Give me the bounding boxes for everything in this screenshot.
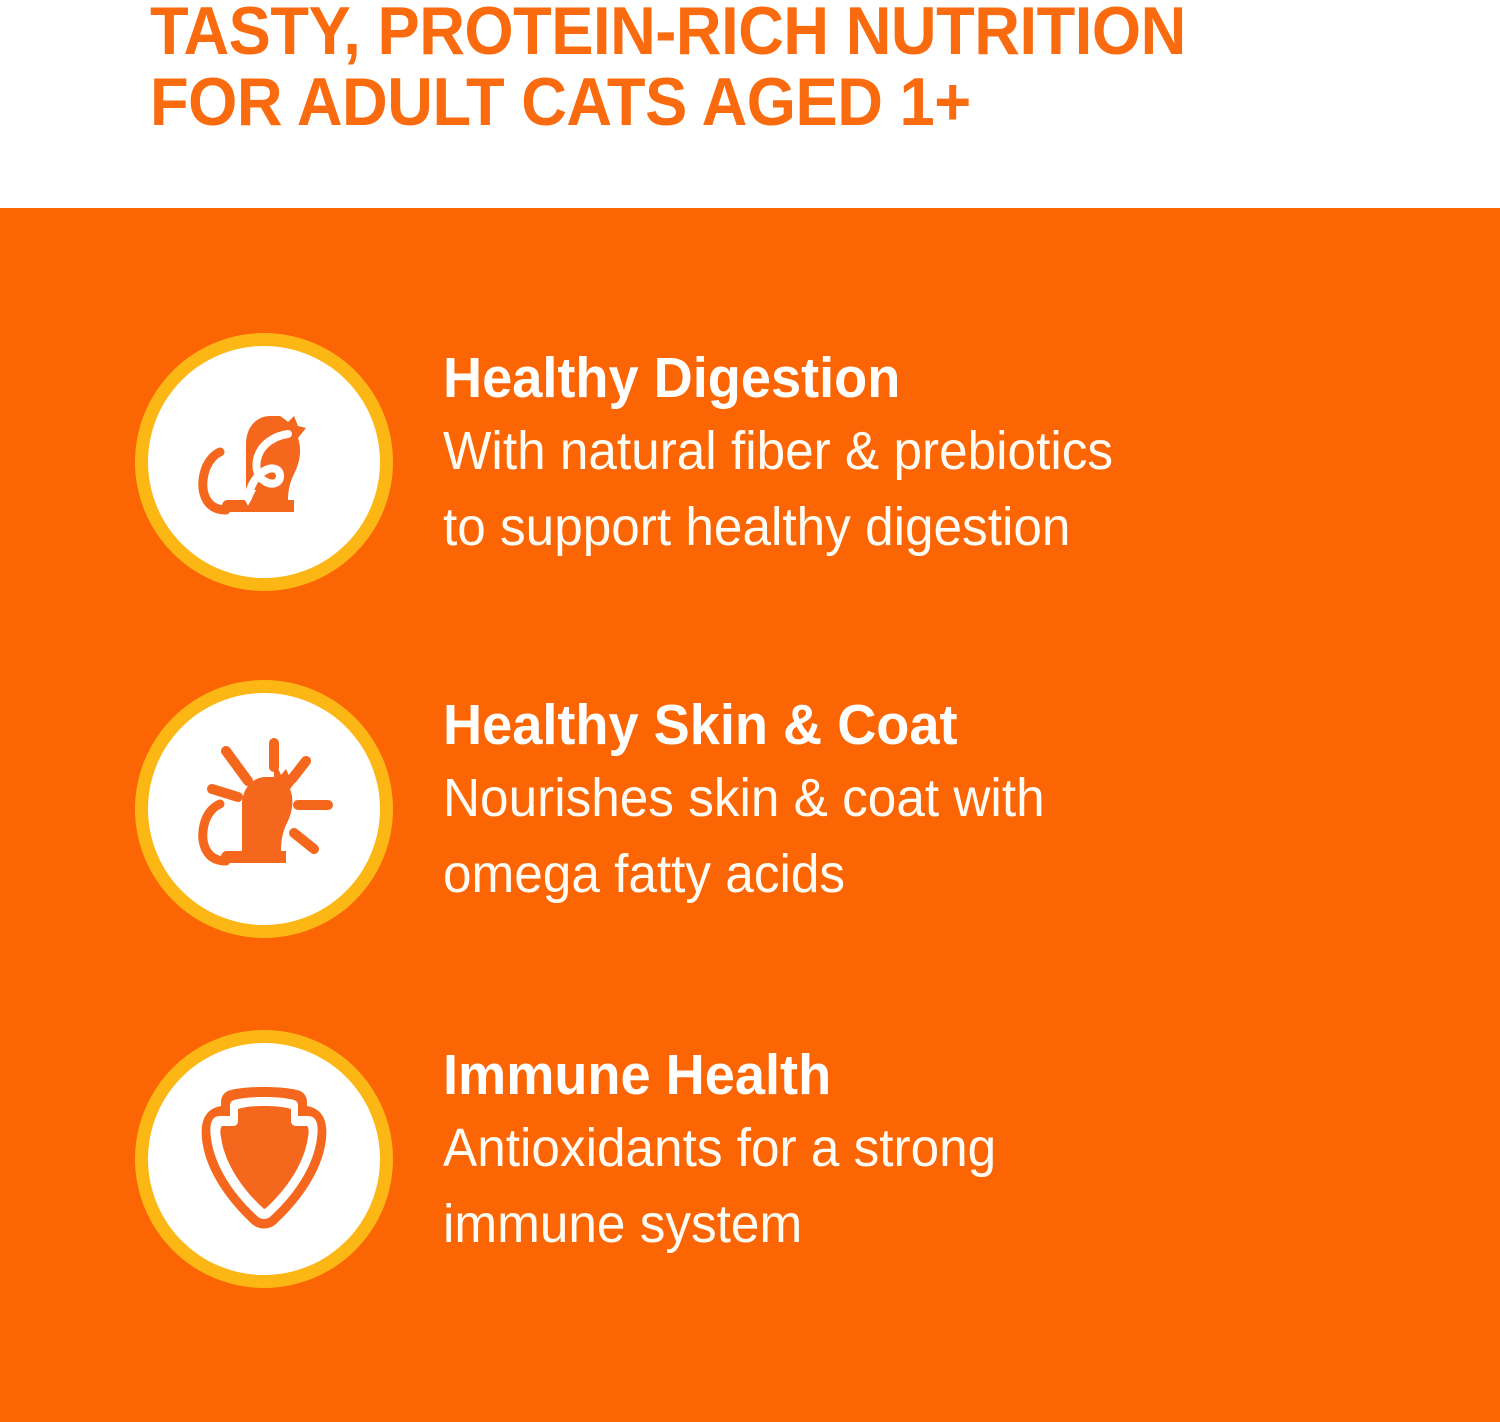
page-title: TASTY, PROTEIN-RICH NUTRITION FOR ADULT … [150, 0, 1359, 138]
benefit-icon-wrapper [135, 1030, 393, 1288]
ray-lower-right [294, 833, 314, 849]
cat-digestion-icon [184, 382, 344, 542]
ray-left [212, 789, 238, 797]
benefit-description: Nourishes skin & coat with omega fatty a… [443, 760, 1447, 912]
benefit-icon-wrapper [135, 680, 393, 938]
icon-disc [148, 693, 380, 925]
icon-disc [148, 346, 380, 578]
benefit-description: Antioxidants for a strong immune system [443, 1110, 1447, 1262]
ray-upper-left [226, 751, 248, 781]
benefit-title: Healthy Digestion [443, 347, 1447, 409]
benefit-row: Healthy Digestion With natural fiber & p… [0, 333, 1500, 591]
benefit-text-block: Healthy Digestion With natural fiber & p… [443, 333, 1500, 565]
benefit-text-block: Healthy Skin & Coat Nourishes skin & coa… [443, 680, 1500, 912]
benefit-icon-wrapper [135, 333, 393, 591]
benefit-row: Immune Health Antioxidants for a strong … [0, 1030, 1500, 1288]
benefit-description: With natural fiber & prebiotics to suppo… [443, 413, 1447, 565]
benefit-text-block: Immune Health Antioxidants for a strong … [443, 1030, 1500, 1262]
benefits-panel: Healthy Digestion With natural fiber & p… [0, 208, 1500, 1422]
benefit-title: Healthy Skin & Coat [443, 694, 1447, 756]
icon-disc [148, 1043, 380, 1275]
cat-shine-icon [182, 727, 346, 891]
benefit-title: Immune Health [443, 1044, 1447, 1106]
benefit-row: Healthy Skin & Coat Nourishes skin & coa… [0, 680, 1500, 938]
shield-icon [189, 1079, 339, 1239]
header-band: TASTY, PROTEIN-RICH NUTRITION FOR ADULT … [0, 0, 1500, 208]
ray-upper-right [292, 761, 306, 779]
